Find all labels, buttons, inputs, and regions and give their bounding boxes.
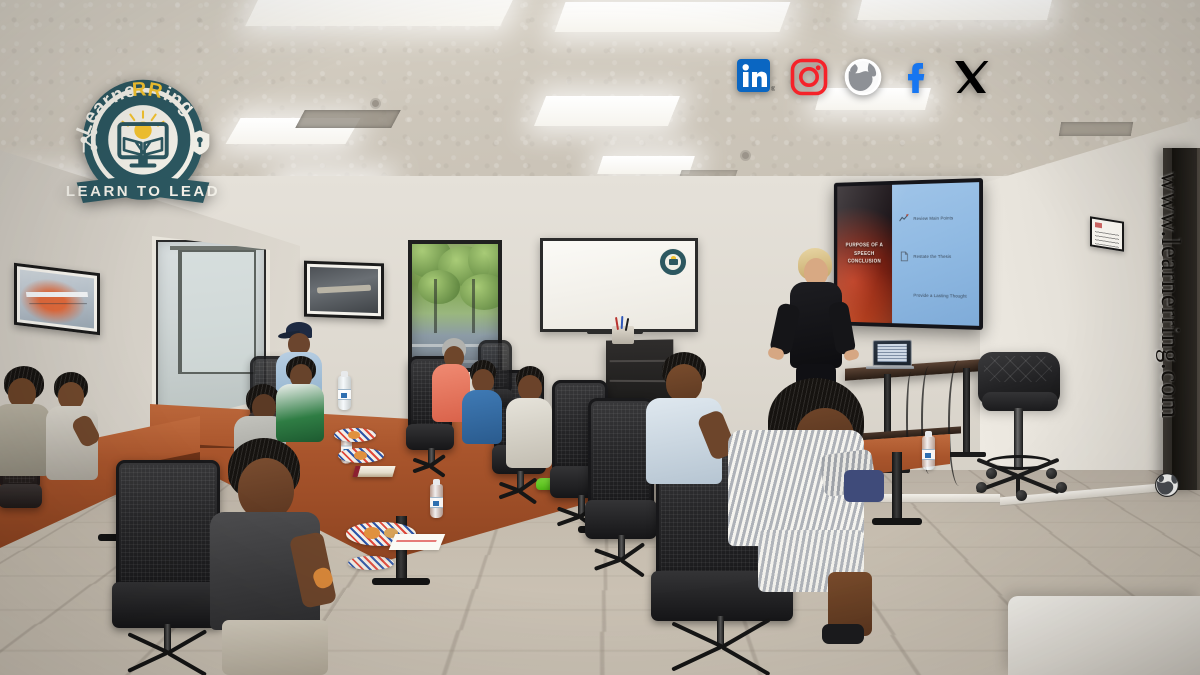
monitor-icon	[665, 254, 681, 270]
line-chart-icon	[899, 213, 909, 224]
caster-wheel	[1056, 482, 1067, 493]
presenter-right-hand	[843, 348, 860, 361]
chair-base	[412, 462, 449, 475]
laptop-keyboard[interactable]	[866, 366, 914, 369]
chair-seat	[585, 500, 656, 539]
aircraft-artwork	[310, 267, 378, 313]
social-icon-bar: ®	[735, 57, 991, 97]
attendee-child-5	[46, 372, 102, 480]
ceiling-light-panel	[555, 2, 791, 32]
framed-helicopter-photo	[14, 263, 100, 336]
sprinkler-head-icon	[372, 100, 379, 107]
ceiling-light-panel	[245, 0, 520, 26]
caster-wheel	[1046, 468, 1057, 479]
attendee-child-7	[462, 360, 506, 444]
svg-text:LEARN TO LEAD: LEARN TO LEAD	[66, 183, 220, 200]
attendee-child-10	[724, 378, 882, 650]
table-foot	[372, 578, 430, 585]
classroom-photo: PURPOSE OF A SPEECH CONCLUSION Review Ma…	[0, 0, 1200, 675]
attendee-child-3	[204, 438, 336, 675]
snack-plate	[338, 448, 384, 463]
torso	[0, 404, 50, 476]
ceiling-vent	[1059, 122, 1133, 136]
water-bottle[interactable]	[922, 436, 935, 470]
caster-wheel	[1016, 490, 1027, 501]
slide-bullet-3-text: Provide a Lasting Thought	[913, 293, 966, 299]
arm-sleeve	[844, 470, 884, 502]
ceiling-light-panel	[857, 0, 1053, 20]
attendee-child-8	[506, 366, 556, 468]
slide-bullet-panel: Review Main Points Restate the Thesis Pr…	[892, 182, 979, 326]
torso	[276, 384, 324, 442]
pen-cup	[612, 326, 634, 344]
water-bottle[interactable]	[430, 484, 443, 518]
chair-seat	[0, 484, 42, 508]
head	[666, 364, 702, 402]
foreground-white-surface	[1008, 596, 1200, 675]
chair-base	[498, 487, 540, 501]
mesh-office-chair[interactable]	[588, 398, 654, 574]
ceiling-light-panel	[534, 96, 680, 126]
chair-seat	[406, 424, 454, 450]
document-icon	[899, 252, 909, 263]
chair-base	[124, 649, 211, 672]
head	[238, 458, 294, 520]
framed-aircraft-photo	[304, 261, 384, 320]
door-handle[interactable]	[1193, 416, 1197, 432]
torso	[506, 398, 552, 468]
water-bottle[interactable]	[338, 376, 351, 410]
laptop[interactable]	[873, 340, 912, 366]
slide-bullet-1-text: Review Main Points	[913, 216, 953, 222]
attendee-child-9	[646, 352, 732, 502]
slide-bullet-3: Provide a Lasting Thought	[899, 289, 973, 301]
table-leg	[892, 452, 902, 520]
snack-plate	[334, 428, 376, 442]
slide-bullet-2-text: Restate the Thesis	[913, 254, 951, 259]
green-dot-icon	[899, 289, 909, 300]
globe-icon[interactable]	[843, 57, 883, 97]
slide-bullet-2: Restate the Thesis	[899, 251, 973, 262]
globe-icon	[1154, 472, 1180, 498]
website-url[interactable]: www.learnerring.com	[1155, 172, 1186, 419]
whiteboard-learnerring-logo	[659, 248, 687, 276]
instagram-icon[interactable]	[789, 57, 829, 97]
helicopter-artwork	[20, 269, 94, 328]
napkin	[389, 534, 445, 550]
drafting-stool-base	[972, 470, 1068, 496]
slide-bullet-1: Review Main Points	[899, 212, 973, 224]
framed-certificate	[1090, 216, 1124, 251]
torso	[462, 390, 502, 444]
power-cable	[948, 360, 970, 486]
linkedin-icon[interactable]: ®	[735, 57, 775, 97]
attendee-child-2	[276, 356, 330, 442]
svg-text:®: ®	[771, 86, 775, 93]
caster-wheel	[986, 468, 997, 479]
snack-plate	[348, 556, 394, 570]
shorts	[222, 620, 328, 675]
facebook-icon[interactable]	[897, 57, 937, 97]
sock	[822, 624, 864, 644]
chair-back	[588, 398, 654, 507]
quilted-upholstery	[984, 356, 1052, 382]
laptop-screen-content	[878, 344, 907, 362]
x-twitter-icon[interactable]	[951, 57, 991, 97]
whiteboard	[540, 238, 698, 332]
book[interactable]	[352, 466, 395, 477]
chair-base	[593, 556, 648, 575]
ceiling-vent	[295, 110, 401, 128]
caster-wheel	[976, 482, 987, 493]
learnerring-logo: Learne RR ing LEARN TO LEAD LearneRRing …	[64, 64, 222, 222]
sprinkler-head-icon	[742, 152, 749, 159]
